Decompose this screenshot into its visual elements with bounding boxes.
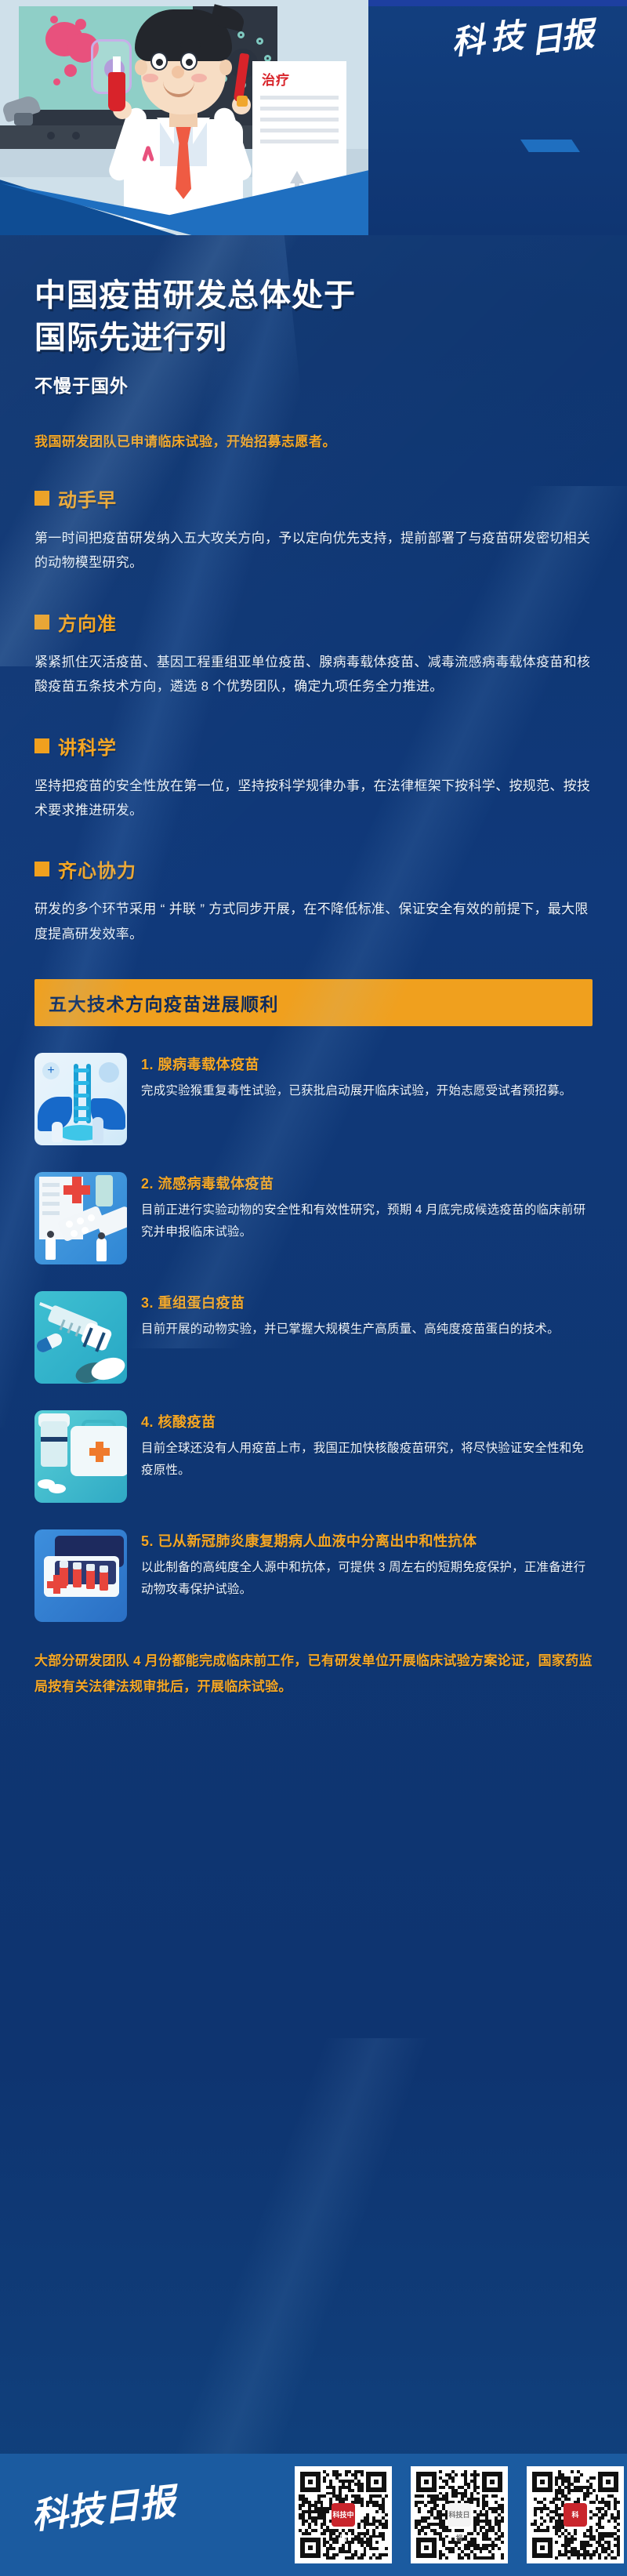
list-item-text: 5. 已从新冠肺炎康复期病人血液中分离出中和性抗体 以此制备的高纯度全人源中和抗…: [141, 1529, 593, 1601]
section-body: 研发的多个环节采用 “ 并联 ” 方式同步开展，在不降低标准、保证安全有效的前提…: [34, 897, 593, 946]
section-header: 齐心协力: [34, 855, 593, 883]
microscope-icon: [0, 99, 47, 146]
qr-center-logo: 科: [564, 2503, 587, 2527]
cheek-left: [143, 74, 158, 82]
hero-top-band: [337, 0, 627, 6]
section-header: 讲科学: [34, 732, 593, 760]
light-streak-decoration: [0, 2038, 627, 2509]
hero-right-panel: 科 技 日 报: [337, 0, 627, 235]
medical-kit-icon: [34, 1410, 127, 1503]
knob-icon: [47, 132, 55, 140]
qr-center-logo: 科技中国: [332, 2503, 355, 2527]
hospital-pills-icon: [34, 1172, 127, 1264]
logo-char: 报: [560, 17, 596, 53]
nose: [172, 66, 184, 78]
infographic-page: 科 技 日 报: [0, 0, 627, 2576]
section-item: 动手早 第一时间把疫苗研发纳入五大攻关方向，予以定向优先支持，提前部署了与疫苗研…: [34, 484, 593, 575]
bacteria-dot-icon: [50, 16, 58, 24]
vaccine-title: 5. 已从新冠肺炎康复期病人血液中分离出中和性抗体: [141, 1531, 593, 1551]
ear-right: [219, 60, 232, 75]
list-item: + 1. 腺病毒载体疫苗 完成实验猴重复毒性试验，: [34, 1053, 593, 1145]
section-body: 第一时间把疫苗研发纳入五大攻关方向，予以定向优先支持，提前部署了与疫苗研发密切相…: [34, 526, 593, 575]
qr-matrix: 科技日报: [415, 2470, 504, 2560]
vaccine-title: 1. 腺病毒载体疫苗: [141, 1054, 593, 1075]
sections-list: 动手早 第一时间把疫苗研发纳入五大攻关方向，予以定向优先支持，提前部署了与疫苗研…: [0, 484, 627, 947]
orange-square-bullet-icon: [34, 615, 49, 629]
eyebrow-right: [180, 42, 201, 48]
logo-char: 科: [450, 24, 486, 60]
bacteria-dot-icon: [75, 19, 86, 30]
vaccine-title: 3. 重组蛋白疫苗: [141, 1293, 593, 1313]
qr-matrix: 科技中国: [299, 2470, 388, 2560]
orange-square-bullet-icon: [34, 738, 49, 753]
vaccine-description: 以此制备的高纯度全人源中和抗体，可提供 3 周左右的短期免疫保护，正准备进行动物…: [141, 1557, 593, 1601]
section-header: 方向准: [34, 608, 593, 636]
logo-char: 日: [528, 22, 565, 59]
test-tube-cap: [237, 96, 248, 107]
qr-code-2[interactable]: 科技日报: [411, 2466, 508, 2563]
blood-sample-case-icon: [34, 1529, 127, 1622]
section-item: 齐心协力 研发的多个环节采用 “ 并联 ” 方式同步开展，在不降低标准、保证安全…: [34, 855, 593, 946]
section-item: 讲科学 坚持把疫苗的安全性放在第一位，坚持按科学规律办事，在法律框架下按科学、按…: [34, 732, 593, 823]
bacteria-dot-icon: [53, 78, 60, 85]
vaccine-description: 完成实验猴重复毒性试验，已获批启动展开临床试验，开始志愿受试者预招募。: [141, 1080, 593, 1102]
qr-code-group: 科技中国 科技日报 科: [295, 2466, 624, 2563]
orange-square-bullet-icon: [34, 491, 49, 506]
vaccine-title: 2. 流感病毒载体疫苗: [141, 1174, 593, 1194]
footer-bar: 科技日报 科技中国 科技日报: [0, 2454, 627, 2576]
hero-banner: 科 技 日 报: [0, 0, 627, 235]
syringe-vial-icon: [34, 1291, 127, 1384]
lead-highlight-text: 我国研发团队已申请临床试验，开始招募志愿者。: [34, 430, 593, 450]
section-body: 坚持把疫苗的安全性放在第一位，坚持按科学规律办事，在法律框架下按科学、按规范、按…: [34, 774, 593, 823]
list-item-text: 1. 腺病毒载体疫苗 完成实验猴重复毒性试验，已获批启动展开临床试验，开始志愿受…: [141, 1053, 593, 1102]
knob-icon: [72, 132, 80, 140]
hero-illustration: 治疗: [0, 0, 368, 235]
ear-left: [135, 60, 147, 75]
dna-research-icon: +: [34, 1053, 127, 1145]
list-item: 4. 核酸疫苗 目前全球还没有人用疫苗上市，我国正加快核酸疫苗研究，将尽快验证安…: [34, 1410, 593, 1503]
vaccine-progress-list: + 1. 腺病毒载体疫苗 完成实验猴重复毒性试验，: [0, 1053, 627, 1622]
eyebrow-left: [150, 42, 171, 48]
logo-char: 科技日报: [30, 2483, 177, 2534]
qr-center-logo: 科技日报: [448, 2503, 471, 2527]
closing-highlight-text: 大部分研发团队 4 月份都能完成临床前工作，已有研发单位开展临床试验方案论证，国…: [34, 1649, 593, 1700]
section-title: 动手早: [58, 484, 117, 512]
section-title: 讲科学: [58, 732, 117, 760]
qr-code-3[interactable]: 科: [527, 2466, 624, 2563]
qr-matrix: 科: [531, 2470, 620, 2560]
list-item: 3. 重组蛋白疫苗 目前开展的动物实验，并已掌握大规模生产高质量、高纯度疫苗蛋白…: [34, 1291, 593, 1384]
page-title-line-1: 中国疫苗研发总体处于: [34, 274, 593, 317]
vaccine-description: 目前正进行实验动物的安全性和有效性研究，预期 4 月底完成候选疫苗的临床前研究并…: [141, 1199, 593, 1243]
section-banner: 五大技术方向疫苗进展顺利: [34, 979, 593, 1026]
section-body: 紧紧抓住灭活疫苗、基因工程重组亚单位疫苗、腺病毒载体疫苗、减毒流感病毒载体疫苗和…: [34, 650, 593, 699]
list-item-text: 2. 流感病毒载体疫苗 目前正进行实验动物的安全性和有效性研究，预期 4 月底完…: [141, 1172, 593, 1243]
list-item: 5. 已从新冠肺炎康复期病人血液中分离出中和性抗体 以此制备的高纯度全人源中和抗…: [34, 1529, 593, 1622]
page-subtitle: 不慢于国外: [34, 371, 593, 397]
section-title: 齐心协力: [58, 855, 136, 883]
footer-brand-logo: 科技日报: [31, 2480, 290, 2550]
vaccine-title: 4. 核酸疫苗: [141, 1412, 593, 1432]
list-item-text: 4. 核酸疫苗 目前全球还没有人用疫苗上市，我国正加快核酸疫苗研究，将尽快验证安…: [141, 1410, 593, 1482]
title-block: 中国疫苗研发总体处于 国际先进行列 不慢于国外: [0, 235, 627, 397]
qr-code-1[interactable]: 科技中国: [295, 2466, 392, 2563]
page-title: 中国疫苗研发总体处于 国际先进行列: [34, 274, 593, 360]
eye-left: [150, 52, 168, 71]
vaccine-description: 目前开展的动物实验，并已掌握大规模生产高质量、高纯度疫苗蛋白的技术。: [141, 1319, 593, 1341]
section-header: 动手早: [34, 484, 593, 512]
awareness-ribbon-icon: [143, 146, 154, 163]
blood-flask-icon: [108, 56, 125, 111]
list-item: 2. 流感病毒载体疫苗 目前正进行实验动物的安全性和有效性研究，预期 4 月底完…: [34, 1172, 593, 1264]
vaccine-description: 目前全球还没有人用疫苗上市，我国正加快核酸疫苗研究，将尽快验证安全性和免疫原性。: [141, 1438, 593, 1482]
logo-char: 技: [490, 20, 525, 55]
brand-logo: 科 技 日 报: [451, 19, 600, 69]
section-item: 方向准 紧紧抓住灭活疫苗、基因工程重组亚单位疫苗、腺病毒载体疫苗、减毒流感病毒载…: [34, 608, 593, 699]
banner-title: 五大技术方向疫苗进展顺利: [49, 989, 578, 1016]
bacteria-dot-icon: [64, 64, 77, 77]
orange-square-bullet-icon: [34, 862, 49, 876]
page-title-line-2: 国际先进行列: [34, 317, 593, 359]
necktie: [176, 125, 191, 199]
section-title: 方向准: [58, 608, 117, 636]
chevron-decoration-icon: [520, 140, 580, 152]
list-item-text: 3. 重组蛋白疫苗 目前开展的动物实验，并已掌握大规模生产高质量、高纯度疫苗蛋白…: [141, 1291, 593, 1341]
